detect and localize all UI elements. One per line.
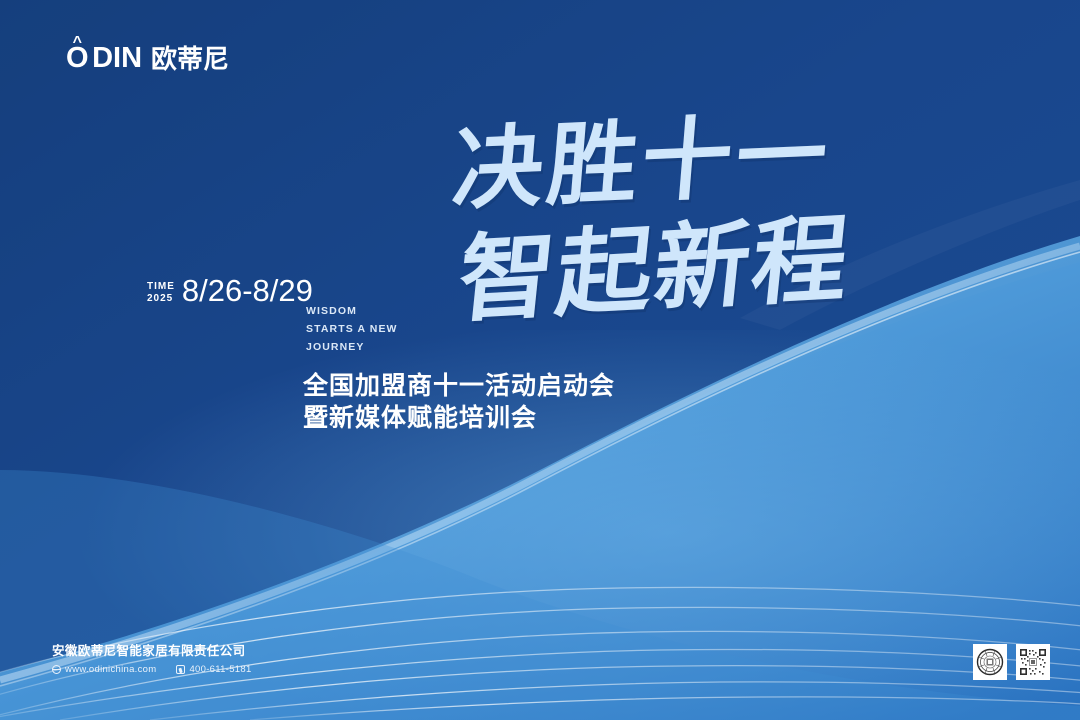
phone-icon <box>176 665 185 674</box>
logo-circumflex: ^ <box>73 35 82 51</box>
logo-latin-text: DIN <box>92 44 142 73</box>
tagline-line-1: WISDOM <box>306 302 398 320</box>
main-title: 决胜十一 智起新程 <box>445 115 915 345</box>
wechat-official-account-qr-icon <box>975 646 1005 678</box>
date-labels: TIME 2025 <box>147 275 175 305</box>
date-label-time: TIME <box>147 281 175 293</box>
brand-logo: ^ O DIN 欧蒂尼 <box>66 44 229 73</box>
tagline-line-3: JOURNEY <box>306 338 398 356</box>
subtitle-line-2: 暨新媒体赋能培训会 <box>303 402 615 434</box>
title-line-2: 智起新程 <box>454 211 855 328</box>
contact-row: www.odinichina.com 400-611-5181 <box>52 664 252 675</box>
wechat-official-account-qr[interactable] <box>973 644 1007 680</box>
logo-chinese-text: 欧蒂尼 <box>151 46 229 72</box>
event-subtitle: 全国加盟商十一活动启动会 暨新媒体赋能培训会 <box>303 370 615 434</box>
date-label-year: 2025 <box>147 293 175 305</box>
company-name: 安徽欧蒂尼智能家居有限责任公司 <box>52 643 252 659</box>
phone-item[interactable]: 400-611-5181 <box>176 664 251 675</box>
mini-program-qr-icon <box>1018 646 1048 678</box>
subtitle-line-1: 全国加盟商十一活动启动会 <box>303 370 615 402</box>
event-date: TIME 2025 8/26-8/29 <box>147 275 313 306</box>
english-tagline: WISDOM STARTS A NEW JOURNEY <box>306 302 398 356</box>
footer-block: 安徽欧蒂尼智能家居有限责任公司 www.odinichina.com 400-6… <box>52 643 252 675</box>
background-artwork <box>0 0 1080 720</box>
website-item[interactable]: www.odinichina.com <box>52 664 156 675</box>
event-poster: ^ O DIN 欧蒂尼 决胜十一 智起新程 TIME 2025 8/26-8/2… <box>0 0 1080 720</box>
title-line-1: 决胜十一 <box>449 109 834 215</box>
mini-program-qr[interactable] <box>1016 644 1050 680</box>
globe-icon <box>52 665 61 674</box>
logo-o-letter: ^ O <box>66 44 88 73</box>
phone-number: 400-611-5181 <box>189 664 251 675</box>
tagline-line-2: STARTS A NEW <box>306 320 398 338</box>
qr-code-group <box>973 644 1050 680</box>
date-range-value: 8/26-8/29 <box>182 275 313 306</box>
website-url: www.odinichina.com <box>65 664 156 675</box>
